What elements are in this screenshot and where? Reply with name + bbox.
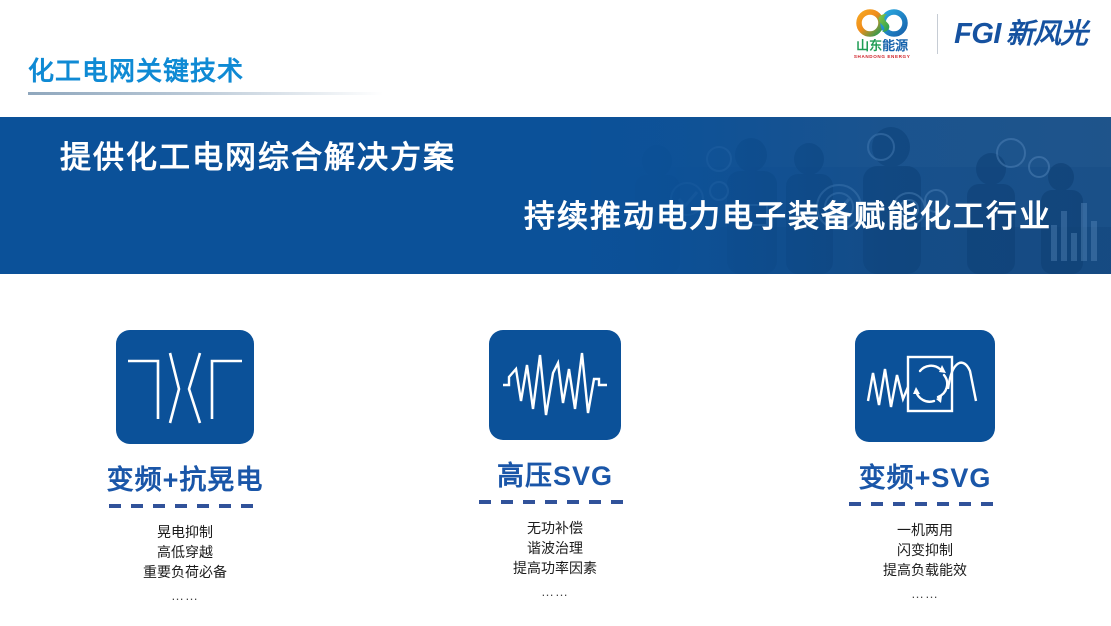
card-feature: 提高负载能效 <box>883 560 967 580</box>
banner-headline-1: 提供化工电网综合解决方案 <box>60 137 1060 179</box>
card-ellipsis: …… <box>541 584 569 599</box>
card-feature: 高低穿越 <box>143 542 227 562</box>
card-feature: 无功补偿 <box>513 518 597 538</box>
variable-frequency-anti-sag-icon <box>126 339 244 435</box>
card-feature: 闪变抑制 <box>883 540 967 560</box>
card-feature: 重要负荷必备 <box>143 562 227 582</box>
card-title: 变频+抗晃电 <box>107 464 264 496</box>
card-feature-list: 一机两用 闪变抑制 提高负载能效 <box>883 520 967 580</box>
card-icon-tile <box>116 330 254 444</box>
card-hv-svg[interactable]: 高压SVG 无功补偿 谐波治理 提高功率因素 …… <box>370 330 740 603</box>
banner-text-block: 提供化工电网综合解决方案 持续推动电力电子装备赋能化工行业 <box>60 137 1060 238</box>
fgi-logo-cn: 新风光 <box>1006 19 1087 49</box>
card-feature: 晃电抑制 <box>143 522 227 542</box>
card-feature: 一机两用 <box>883 520 967 540</box>
card-divider <box>109 504 261 508</box>
hero-banner: 提供化工电网综合解决方案 持续推动电力电子装备赋能化工行业 <box>0 117 1111 274</box>
card-title: 变频+SVG <box>859 462 992 494</box>
card-icon-tile <box>855 330 995 442</box>
card-vfd-anti-sag[interactable]: 变频+抗晃电 晃电抑制 高低穿越 重要负荷必备 …… <box>0 330 370 603</box>
page-header: 山东能源 SHANDONG ENERGY FGI 新风光 化工电网关键技术 <box>0 0 1111 110</box>
harmonic-waveform-icon <box>499 339 611 431</box>
solution-cards: 变频+抗晃电 晃电抑制 高低穿越 重要负荷必备 …… 高压SVG 无功补偿 谐波… <box>0 330 1111 603</box>
banner-headline-2: 持续推动电力电子装备赋能化工行业 <box>60 196 1060 238</box>
card-feature: 提高功率因素 <box>513 558 597 578</box>
fgi-logo: FGI 新风光 <box>954 19 1087 49</box>
card-icon-tile <box>489 330 621 440</box>
card-title: 高压SVG <box>497 460 613 492</box>
shandong-logo-cn: 山东能源 <box>856 39 908 52</box>
page-title: 化工电网关键技术 <box>28 56 244 86</box>
dual-function-recycle-icon <box>864 339 986 433</box>
title-underline <box>28 92 383 95</box>
card-ellipsis: …… <box>171 588 199 603</box>
card-feature-list: 晃电抑制 高低穿越 重要负荷必备 <box>143 522 227 582</box>
card-vfd-svg[interactable]: 变频+SVG 一机两用 闪变抑制 提高负载能效 …… <box>740 330 1110 603</box>
card-feature: 谐波治理 <box>513 538 597 558</box>
fgi-logo-latin: FGI <box>954 19 1001 49</box>
card-feature-list: 无功补偿 谐波治理 提高功率因素 <box>513 518 597 578</box>
shandong-logo-en: SHANDONG ENERGY <box>854 53 910 60</box>
card-divider <box>849 502 1001 506</box>
card-divider <box>479 500 631 504</box>
logo-group: 山东能源 SHANDONG ENERGY FGI 新风光 <box>845 6 1087 62</box>
logo-divider <box>937 14 938 54</box>
card-ellipsis: …… <box>911 586 939 601</box>
interlocking-rings-icon <box>850 9 914 37</box>
shandong-energy-logo: 山东能源 SHANDONG ENERGY <box>845 9 919 60</box>
